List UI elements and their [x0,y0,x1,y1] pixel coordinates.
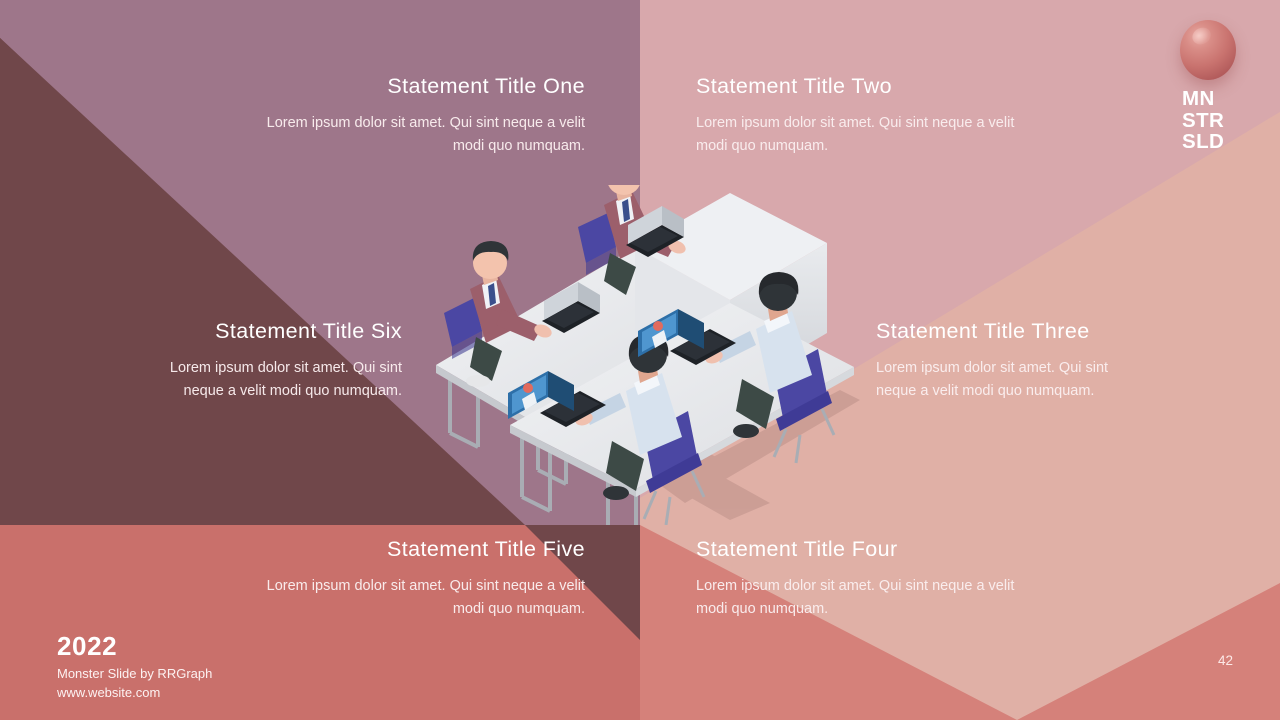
statement-body-five: Lorem ipsum dolor sit amet. Qui sint neq… [265,575,585,622]
statement-title-six: Statement Title Six [130,319,402,345]
statement-block-one: Statement Title One Lorem ipsum dolor si… [265,74,585,159]
statement-block-three: Statement Title Three Lorem ipsum dolor … [876,319,1151,404]
statement-block-two: Statement Title Two Lorem ipsum dolor si… [696,74,1026,159]
statement-title-two: Statement Title Two [696,74,1026,100]
statement-title-five: Statement Title Five [265,537,585,563]
statement-block-six: Statement Title Six Lorem ipsum dolor si… [130,319,402,404]
footer-year: 2022 [57,632,212,661]
statement-body-three: Lorem ipsum dolor sit amet. Qui sint neq… [876,357,1151,404]
statement-body-one: Lorem ipsum dolor sit amet. Qui sint neq… [265,112,585,159]
page-number: 42 [1218,653,1233,668]
logo-line-1: MN [1182,88,1224,110]
statement-block-five: Statement Title Five Lorem ipsum dolor s… [265,537,585,622]
logo-line-3: SLD [1182,131,1224,153]
statement-body-two: Lorem ipsum dolor sit amet. Qui sint neq… [696,112,1026,159]
slide-footer: 2022 Monster Slide by RRGraph www.websit… [57,632,212,703]
footer-credit: Monster Slide by RRGraph [57,665,212,683]
statement-title-three: Statement Title Three [876,319,1151,345]
logo-wordmark: MN STR SLD [1182,88,1224,153]
sphere-icon [1180,20,1236,80]
statement-block-four: Statement Title Four Lorem ipsum dolor s… [696,537,1026,622]
statement-body-six: Lorem ipsum dolor sit amet. Qui sint neq… [130,357,402,404]
isometric-office-illustration [430,185,870,525]
logo-line-2: STR [1182,110,1224,132]
statement-body-four: Lorem ipsum dolor sit amet. Qui sint neq… [696,575,1026,622]
statement-title-four: Statement Title Four [696,537,1026,563]
brand-logo: MN STR SLD [1170,20,1246,165]
statement-title-one: Statement Title One [265,74,585,100]
presentation-slide: Statement Title One Lorem ipsum dolor si… [0,0,1280,720]
footer-website: www.website.com [57,684,212,702]
